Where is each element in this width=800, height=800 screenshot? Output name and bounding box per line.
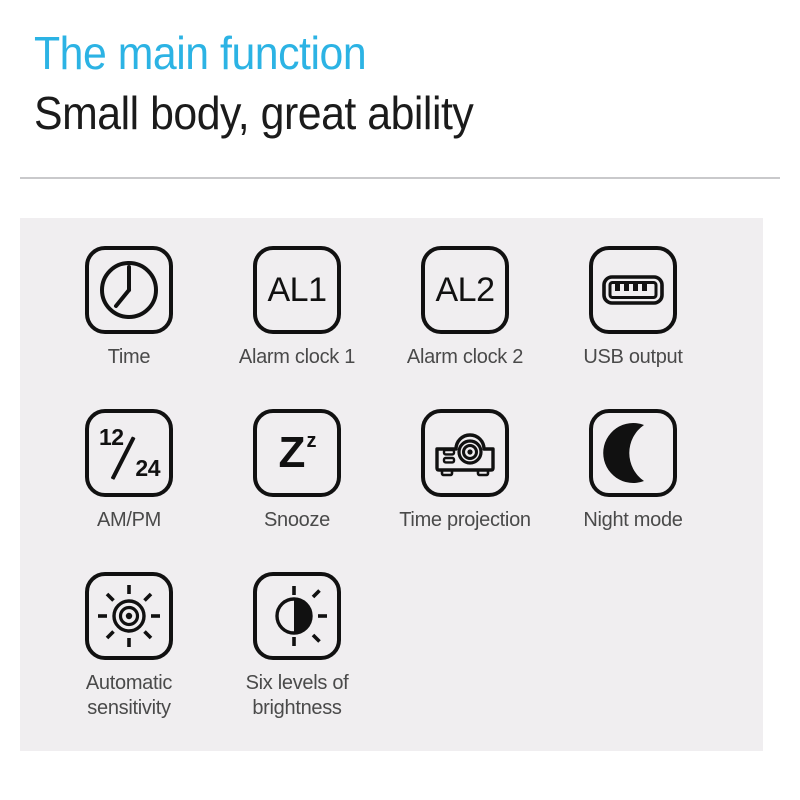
feature-item-automatic-sensitivity[interactable]: Automatic sensitivity [45,572,213,747]
page-subtitle: Small body, great ability [34,84,722,142]
feature-item-am-pm[interactable]: 12 24 AM/PM [45,409,213,572]
twelve-text: 12 [99,426,124,449]
feature-item-alarm-clock-1[interactable]: AL1 Alarm clock 1 [213,246,381,409]
feature-item-usb-output[interactable]: USB output [549,246,717,409]
feature-label: USB output [583,345,682,370]
feature-item-time[interactable]: Time [45,246,213,409]
header-divider [20,177,780,179]
twelve-twentyfour-glyph: 12 24 [98,424,160,482]
feature-label: AM/PM [97,508,161,533]
feature-label: Six levels of brightness [246,671,349,721]
al1-glyph: AL1 [268,273,327,307]
page-header: The main function Small body, great abil… [34,26,774,142]
z-superscript: z [306,430,316,452]
twelve-twentyfour-icon: 12 24 [85,409,173,497]
feature-infographic-page: The main function Small body, great abil… [0,0,800,800]
sun-sensor-icon [85,572,173,660]
crescent-moon-icon [589,409,677,497]
feature-label: Automatic sensitivity [86,671,172,721]
feature-item-six-levels-brightness[interactable]: Six levels of brightness [213,572,381,747]
twentyfour-text: 24 [135,457,160,480]
snooze-zz-icon: Zz [253,409,341,497]
feature-label: Alarm clock 1 [239,345,355,370]
al1-text-icon: AL1 [253,246,341,334]
feature-item-night-mode[interactable]: Night mode [549,409,717,572]
z-main: Z [279,428,306,477]
feature-label: Night mode [583,508,682,533]
snooze-z-glyph: Zz [279,431,316,475]
usb-port-icon [589,246,677,334]
feature-label: Snooze [264,508,330,533]
feature-item-snooze[interactable]: Zz Snooze [213,409,381,572]
feature-item-time-projection[interactable]: Time projection [381,409,549,572]
feature-label: Time [108,345,151,370]
feature-item-alarm-clock-2[interactable]: AL2 Alarm clock 2 [381,246,549,409]
feature-label: Time projection [399,508,530,533]
al2-glyph: AL2 [436,273,495,307]
clock-icon [85,246,173,334]
page-title: The main function [34,26,722,80]
brightness-half-sun-icon [253,572,341,660]
projector-icon [421,409,509,497]
feature-panel: Time AL1 Alarm clock 1 AL2 Alarm clock 2 [20,218,763,751]
feature-label: Alarm clock 2 [407,345,523,370]
feature-grid: Time AL1 Alarm clock 1 AL2 Alarm clock 2 [20,218,763,747]
al2-text-icon: AL2 [421,246,509,334]
